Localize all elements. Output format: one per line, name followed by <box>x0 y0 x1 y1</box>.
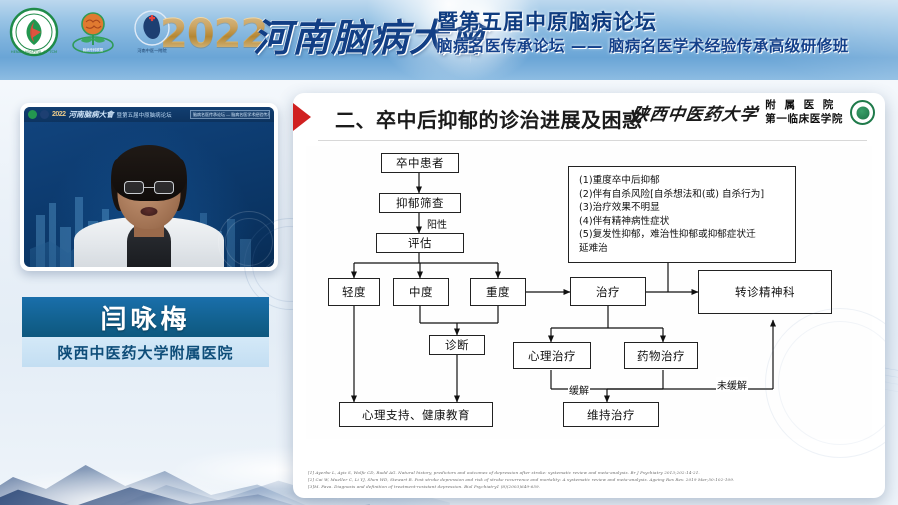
video-overlay-subtitle: 暨第五届中原脑病论坛 <box>117 111 172 119</box>
speaker-mouth <box>141 207 158 216</box>
node-assessment[interactable]: 评估 <box>376 233 464 253</box>
criteria-item: (2)伴有自杀风险[自杀想法和(或) 自杀行为] <box>579 188 787 202</box>
video-overlay-year: 2022 <box>52 111 66 118</box>
reference-item: [2] Cai W, Mueller C, Li YJ, Shen WD, St… <box>308 476 872 483</box>
criteria-item: (4)伴有精神病性症状 <box>579 215 787 229</box>
header-subtitle-secondary: 脑病名医传承论坛 —— 脑病名医学术经验传承高级研修班 <box>437 34 849 56</box>
header-year: 2022 <box>160 8 267 60</box>
slide-header-divider <box>318 140 867 141</box>
header-subtitle-primary: 暨第五届中原脑病论坛 <box>437 6 657 36</box>
edge-label-remitted: 缓解 <box>568 382 590 397</box>
slide-header: 二、卒中后抑郁的诊治进展及困惑 陕西中医药大学 附 属 医 院 第一临床医学院 <box>293 93 885 147</box>
speaker-eyeglasses <box>124 181 174 194</box>
university-name: 陕西中医药大学 <box>631 100 761 125</box>
edge-label-positive: 阳性 <box>426 216 448 231</box>
edge-label-not-remitted: 未缓解 <box>716 377 748 392</box>
video-overlay-logo-1 <box>28 110 37 119</box>
node-psychotherapy[interactable]: 心理治疗 <box>513 342 591 369</box>
speaker-name-banner: 闫咏梅 陕西中医药大学附属医院 <box>22 297 269 367</box>
criteria-item: (5)复发性抑郁，难治性抑郁或抑郁症状迁 <box>579 228 787 242</box>
svg-text:脑病专科联盟: 脑病专科联盟 <box>83 47 104 52</box>
svg-text:HENAN HOSPITAL OF TCM: HENAN HOSPITAL OF TCM <box>11 50 57 54</box>
presentation-viewer: HENAN HOSPITAL OF TCM 脑病专科联盟 河南中医一附院 202… <box>0 0 898 505</box>
node-depression-screening[interactable]: 抑郁筛查 <box>379 193 461 213</box>
criteria-item: (3)治疗效果不明显 <box>579 201 787 215</box>
node-pharmacotherapy[interactable]: 药物治疗 <box>624 342 698 369</box>
conference-header-banner: HENAN HOSPITAL OF TCM 脑病专科联盟 河南中医一附院 202… <box>0 0 898 80</box>
university-emblem-icon <box>850 100 875 125</box>
node-referral-psychiatry[interactable]: 转诊精神科 <box>698 270 832 314</box>
node-support-education[interactable]: 心理支持、健康教育 <box>339 402 493 427</box>
header-logo-group: HENAN HOSPITAL OF TCM 脑病专科联盟 河南中医一附院 <box>8 6 178 58</box>
slide-card[interactable]: 二、卒中后抑郁的诊治进展及困惑 陕西中医药大学 附 属 医 院 第一临床医学院 <box>293 93 885 498</box>
red-triangle-bullet-icon <box>293 103 311 131</box>
node-treatment[interactable]: 治疗 <box>570 277 646 306</box>
node-stroke-patient[interactable]: 卒中患者 <box>381 153 459 173</box>
node-moderate[interactable]: 中度 <box>393 278 449 306</box>
node-mild[interactable]: 轻度 <box>328 278 380 306</box>
node-severe[interactable]: 重度 <box>470 278 526 306</box>
henan-hospital-logo: HENAN HOSPITAL OF TCM <box>8 6 60 58</box>
video-overlay-ticker: 脑病名医传承论坛 — 脑病名医学术经验传承高级研修班 <box>190 110 270 119</box>
reference-list: [1] Ayerbe L, Ayis S, Wolfe CD, Rudd AG.… <box>306 469 872 490</box>
reference-item: [3]M. Fava. Diagnosis and definition of … <box>308 483 872 490</box>
speaker-organization: 陕西中医药大学附属医院 <box>22 337 269 367</box>
video-overlay-bar: 2022 河南脑病大會 暨第五届中原脑病论坛 脑病名医传承论坛 — 脑病名医学术… <box>24 107 274 122</box>
video-overlay-logo-2 <box>40 110 49 119</box>
video-overlay-title: 河南脑病大會 <box>69 109 114 120</box>
speaker-name: 闫咏梅 <box>22 297 269 337</box>
criteria-item: (1)重度卒中后抑郁 <box>579 174 787 188</box>
criteria-item: 延难治 <box>579 242 787 256</box>
affiliation-line-2: 第一临床医学院 <box>765 113 843 126</box>
affiliation-line-1: 附 属 医 院 <box>765 99 843 112</box>
brain-disease-logo: 脑病专科联盟 <box>68 7 118 57</box>
reference-item: [1] Ayerbe L, Ayis S, Wolfe CD, Rudd AG.… <box>308 469 872 476</box>
university-branding: 陕西中医药大学 附 属 医 院 第一临床医学院 <box>632 99 875 126</box>
speaker-video-panel[interactable]: 2022 河南脑病大會 暨第五届中原脑病论坛 脑病名医传承论坛 — 脑病名医学术… <box>20 103 278 271</box>
slide-title: 二、卒中后抑郁的诊治进展及困惑 <box>335 104 643 133</box>
node-diagnosis[interactable]: 诊断 <box>429 335 485 355</box>
node-maintenance-therapy[interactable]: 维持治疗 <box>563 402 659 427</box>
referral-criteria-box: (1)重度卒中后抑郁 (2)伴有自杀风险[自杀想法和(或) 自杀行为] (3)治… <box>568 166 796 263</box>
video-surface[interactable]: 2022 河南脑病大會 暨第五届中原脑病论坛 脑病名医传承论坛 — 脑病名医学术… <box>24 107 274 267</box>
university-affiliation: 附 属 医 院 第一临床医学院 <box>765 99 843 126</box>
